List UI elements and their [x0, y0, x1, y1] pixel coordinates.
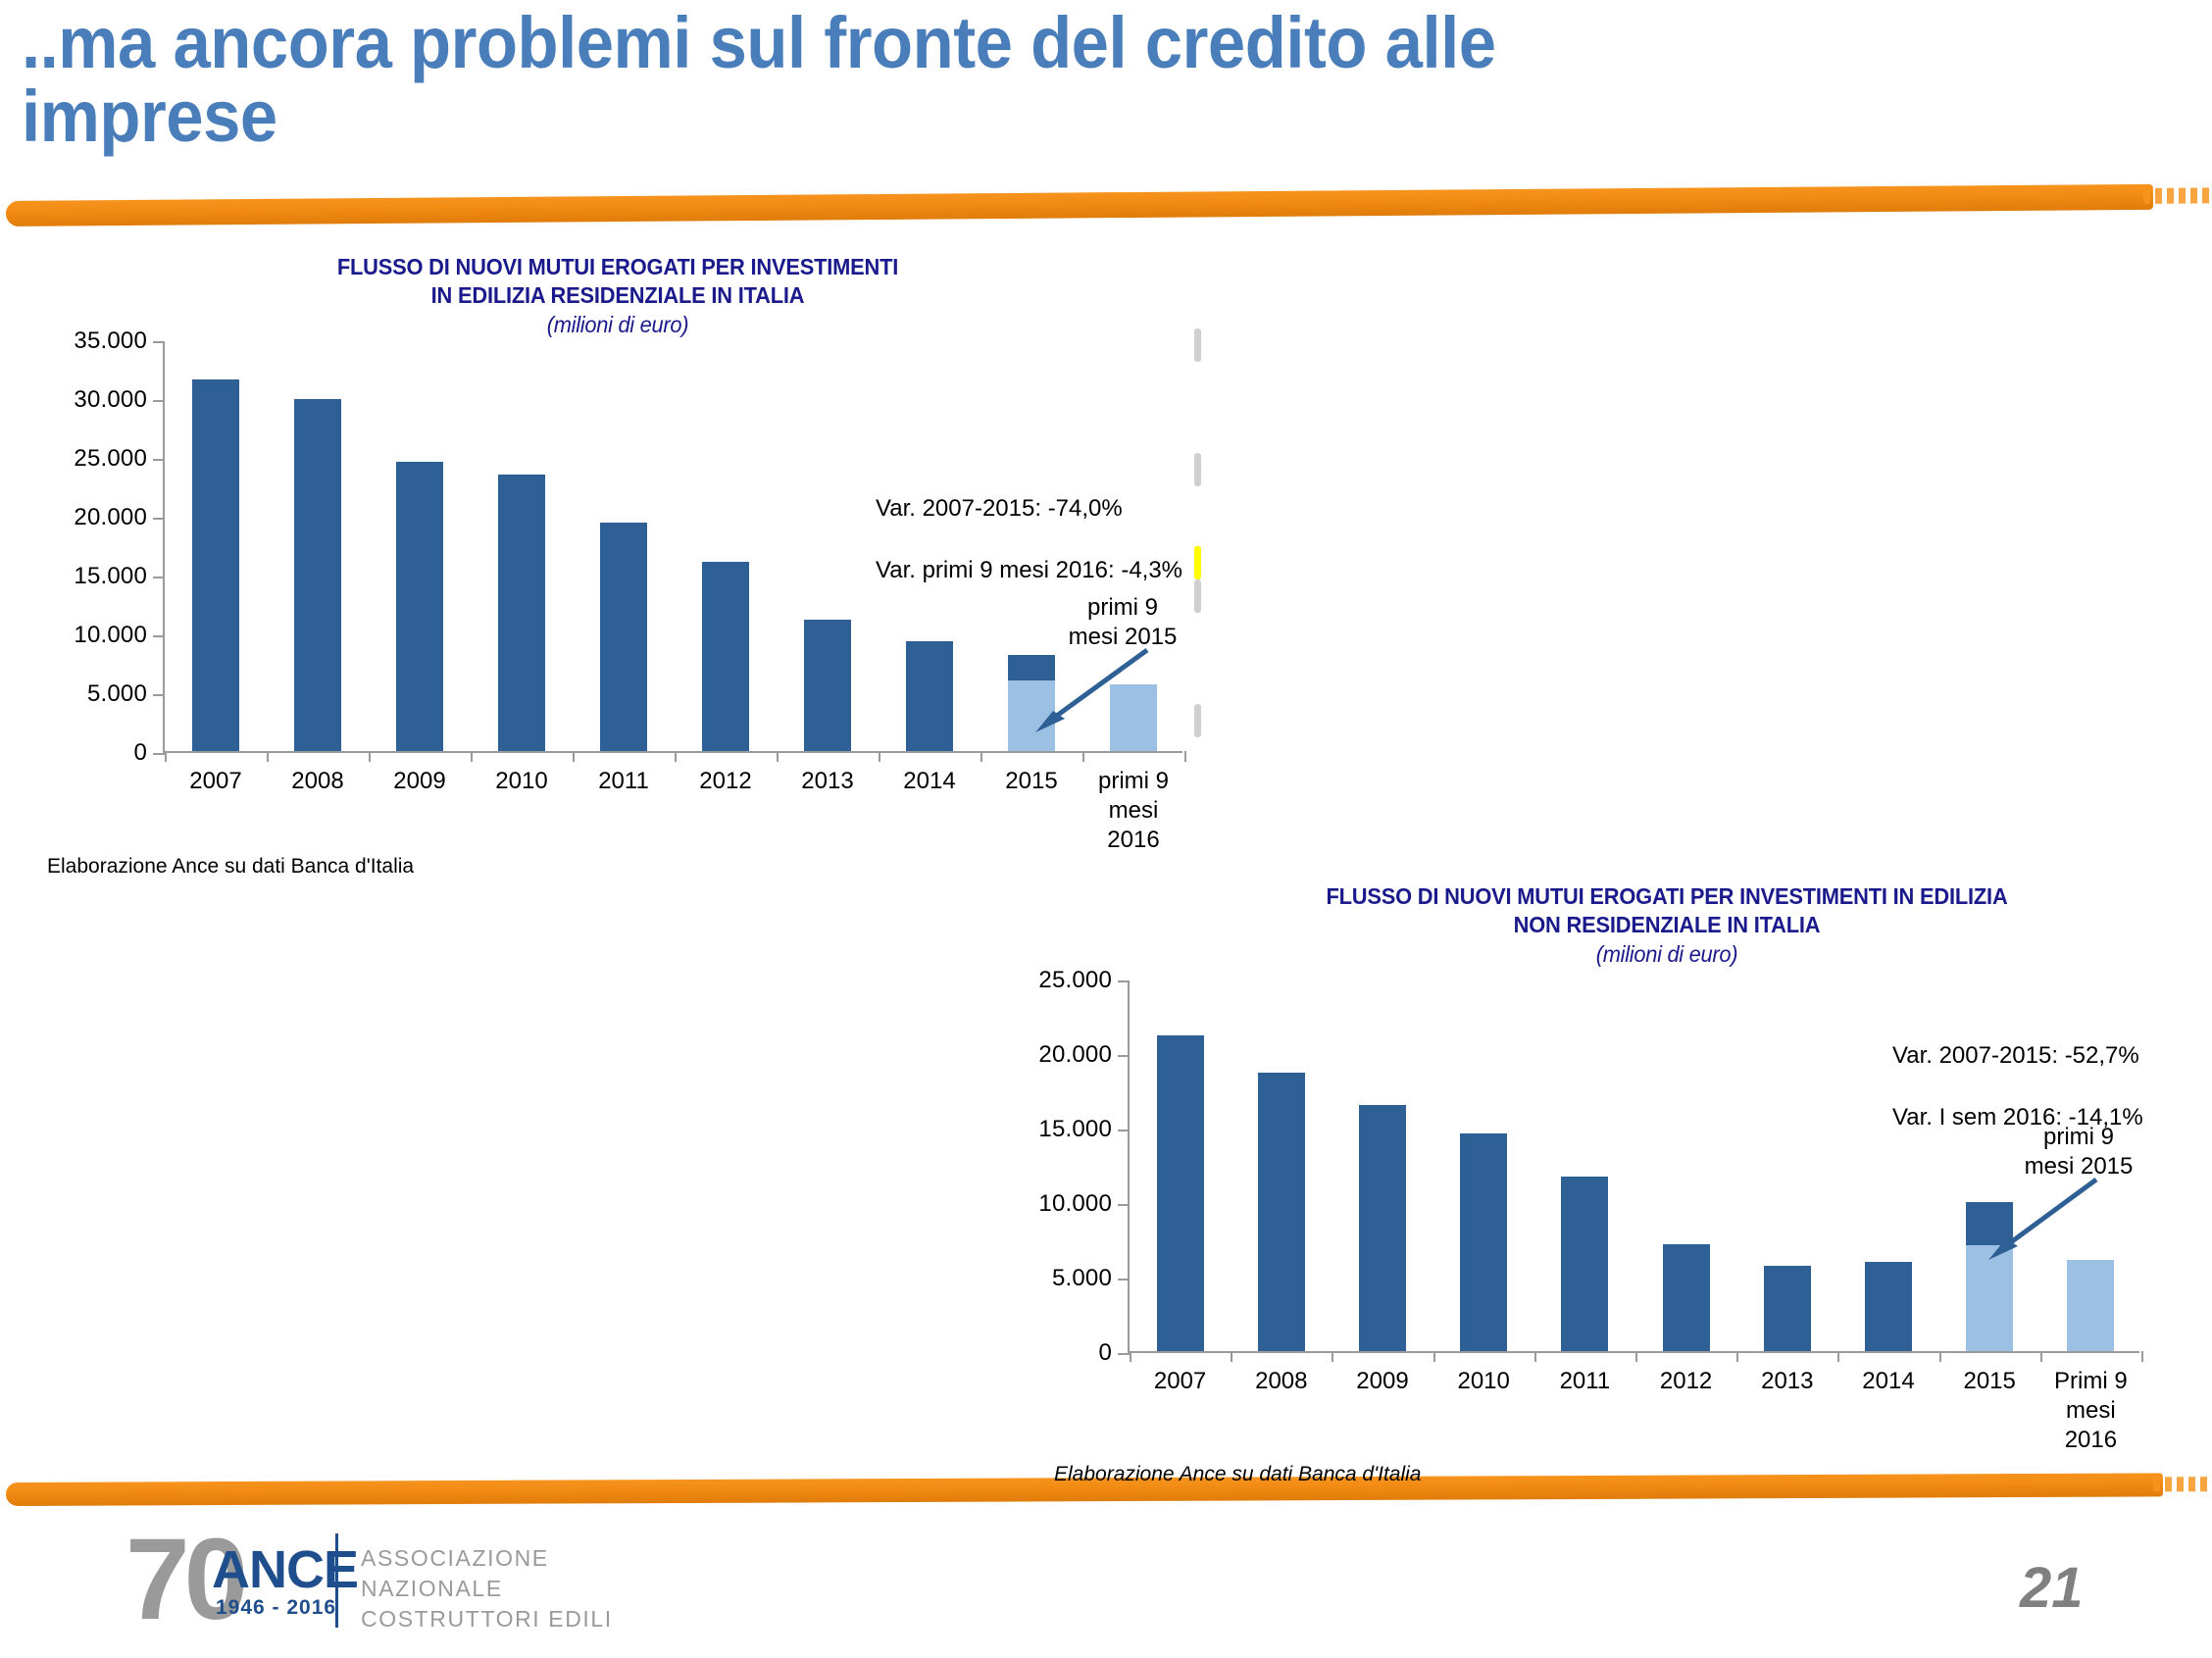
chart2-source: Elaborazione Ance su dati Banca d'Italia — [1054, 1463, 1421, 1486]
bar-2010 — [1460, 1133, 1507, 1351]
slide-root: ..ma ancora problemi sul fronte del cred… — [0, 0, 2212, 1658]
chart2-callout-line1: primi 9 — [2043, 1124, 2114, 1150]
bar-segment-full-year — [1663, 1244, 1710, 1351]
x-axis-gridline — [2141, 1351, 2143, 1362]
y-axis-tick: 20.000 — [1038, 1041, 1130, 1069]
scroll-artifact-1 — [1194, 328, 1201, 362]
bar-segment-full-year — [1561, 1177, 1608, 1351]
chart2-variation-line1: Var. 2007-2015: -52,7% — [1892, 1042, 2139, 1069]
chart-non-residenziale: FLUSSO DI NUOVI MUTUI EROGATI PER INVEST… — [0, 0, 2212, 1520]
chart2-callout-arrow — [1971, 1172, 2108, 1270]
logo-years: 1946 - 2016 — [216, 1596, 336, 1620]
bar-segment-full-year — [1865, 1262, 1912, 1351]
scroll-artifact-4 — [1194, 704, 1201, 737]
bar-segment-full-year — [1157, 1035, 1204, 1351]
logo-divider — [335, 1533, 338, 1628]
bar-2012 — [1663, 1244, 1710, 1351]
bar-2007 — [1157, 1035, 1204, 1351]
bar-2014 — [1865, 1262, 1912, 1351]
y-axis-tick: 25.000 — [1038, 967, 1130, 994]
chart2-title: FLUSSO DI NUOVI MUTUI EROGATI PER INVEST… — [1182, 882, 2151, 969]
bar-2009 — [1359, 1105, 1406, 1351]
bar-Primi 9 — [2067, 1260, 2114, 1351]
chart2-title-line1: FLUSSO DI NUOVI MUTUI EROGATI PER INVEST… — [1326, 883, 2007, 909]
scroll-artifact-3 — [1194, 579, 1201, 613]
bar-2008 — [1258, 1073, 1305, 1351]
logo-association-name: ASSOCIAZIONE NAZIONALE COSTRUTTORI EDILI — [361, 1543, 635, 1634]
chart2-subtitle: (milioni di euro) — [1182, 940, 2151, 969]
chart2-title-line2: NON RESIDENZIALE IN ITALIA — [1514, 912, 1821, 937]
scroll-artifact-2 — [1194, 453, 1201, 486]
chart2-variation-note: Var. 2007-2015: -52,7% Var. I sem 2016: … — [1892, 1010, 2143, 1132]
y-axis-tick: 15.000 — [1038, 1116, 1130, 1143]
x-axis-label: Primi 9mesi2016 — [2022, 1351, 2159, 1455]
bar-2013 — [1764, 1266, 1811, 1351]
bar-2011 — [1561, 1177, 1608, 1351]
page-number: 21 — [2020, 1555, 2084, 1621]
bar-segment-first-9-months — [2067, 1260, 2114, 1351]
bar-segment-full-year — [1258, 1073, 1305, 1351]
scroll-artifact-highlight — [1194, 546, 1201, 579]
y-axis-tick: 10.000 — [1038, 1190, 1130, 1218]
ance-logo: 70 ANCE 1946 - 2016 ASSOCIAZIONE NAZIONA… — [126, 1526, 635, 1643]
bar-segment-full-year — [1460, 1133, 1507, 1351]
bar-segment-full-year — [1359, 1105, 1406, 1351]
bar-segment-full-year — [1764, 1266, 1811, 1351]
y-axis-tick: 5.000 — [1052, 1265, 1130, 1292]
